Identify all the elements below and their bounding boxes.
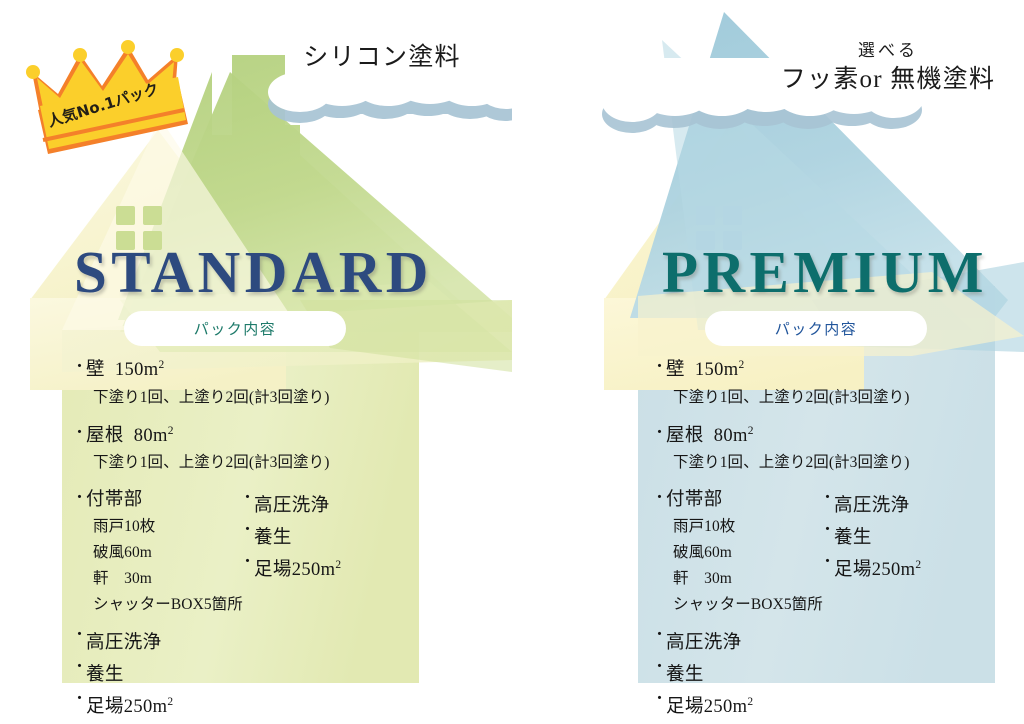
option-head: 付帯部 <box>86 491 143 510</box>
plan-title-standard: STANDARD <box>74 238 433 307</box>
tail-scaffold: 足場250m2 <box>666 692 753 718</box>
list-bullet: ・ <box>72 426 86 442</box>
tail-protection: 養生 <box>666 660 704 686</box>
spec-roof-detail: 下塗り1回、上塗り2回(計3回塗り) <box>93 450 472 472</box>
options-two-columns: ・ 付帯部 雨戸10枚 破風60m 軒 30m シャッターBOX5箇所 ・ 高圧… <box>72 491 472 614</box>
panel-premium: 選べる フッ素or 無機塗料 PREMIUM パック内容 ・ 壁 150m2 下… <box>512 0 1024 683</box>
tail-list: ・ 高圧洗浄 ・ 養生 ・ 足場250m2 <box>652 628 1024 718</box>
list-item: ・ 足場250m2 <box>72 692 472 718</box>
pack-contents-pill-standard: パック内容 <box>124 311 346 346</box>
popular-badge: 人気No.1パック <box>18 28 208 168</box>
spec-wall-detail: 下塗り1回、上塗り2回(計3回塗り) <box>93 385 472 407</box>
spec-block: ・ 屋根 80m2 下塗り1回、上塗り2回(計3回塗り) <box>652 426 1024 473</box>
list-item: ・ 養生 <box>240 523 440 549</box>
caption-premium: 選べる フッ素or 無機塗料 <box>752 40 1024 97</box>
tail-scaffold: 足場250m2 <box>86 692 173 718</box>
list-item: ・ 高圧洗浄 <box>820 491 1020 517</box>
list-item: ・ 養生 <box>72 660 472 686</box>
option-washing: 高圧洗浄 <box>834 491 909 517</box>
option-washing: 高圧洗浄 <box>254 491 329 517</box>
options-column-right: ・ 高圧洗浄 ・ 養生 ・ 足場250m2 <box>820 491 1020 614</box>
list-item: ・ 足場250m2 <box>240 555 440 581</box>
pack-contents-premium: ・ 壁 150m2 下塗り1回、上塗り2回(計3回塗り) ・ 屋根 80m2 下… <box>652 360 1024 724</box>
option-item: シャッターBOX5箇所 <box>93 592 240 614</box>
list-bullet: ・ <box>240 523 254 539</box>
list-item: ・ 高圧洗浄 <box>240 491 440 517</box>
option-scaffold: 足場250m2 <box>254 555 341 581</box>
list-bullet: ・ <box>652 360 666 376</box>
caption-main: フッ素or 無機塗料 <box>752 64 1024 97</box>
panel-standard: 人気No.1パック シリコン塗料 STANDARD パック内容 ・ 壁 150m… <box>0 0 512 683</box>
list-bullet: ・ <box>240 491 254 507</box>
list-bullet: ・ <box>72 692 86 708</box>
list-bullet: ・ <box>820 491 834 507</box>
spec-wall: 壁 150m2 <box>666 360 744 380</box>
caption-standard: シリコン塗料 <box>262 42 502 75</box>
list-bullet: ・ <box>72 491 86 507</box>
list-bullet: ・ <box>820 555 834 571</box>
spec-roof: 屋根 80m2 <box>666 426 754 446</box>
list-item: ・ 養生 <box>820 523 1020 549</box>
spec-block: ・ 壁 150m2 下塗り1回、上塗り2回(計3回塗り) <box>72 360 472 407</box>
options-two-columns: ・ 付帯部 雨戸10枚 破風60m 軒 30m シャッターBOX5箇所 ・ 高圧… <box>652 491 1024 614</box>
caption-sub: 選べる <box>752 40 1024 62</box>
list-bullet: ・ <box>652 692 666 708</box>
list-bullet: ・ <box>72 628 86 644</box>
options-column-left: ・ 付帯部 雨戸10枚 破風60m 軒 30m シャッターBOX5箇所 <box>72 491 240 614</box>
option-item: 雨戸10枚 <box>673 514 820 536</box>
list-bullet: ・ <box>820 523 834 539</box>
list-bullet: ・ <box>240 555 254 571</box>
tail-washing: 高圧洗浄 <box>86 628 161 654</box>
pack-contents-standard: ・ 壁 150m2 下塗り1回、上塗り2回(計3回塗り) ・ 屋根 80m2 下… <box>72 360 472 724</box>
option-head: 付帯部 <box>666 491 723 510</box>
spec-block: ・ 屋根 80m2 下塗り1回、上塗り2回(計3回塗り) <box>72 426 472 473</box>
option-item: シャッターBOX5箇所 <box>673 592 820 614</box>
plan-title-premium: PREMIUM <box>662 238 988 307</box>
spec-roof: 屋根 80m2 <box>86 426 174 446</box>
option-item: 破風60m <box>93 540 240 562</box>
list-item: ・ 高圧洗浄 <box>652 628 1024 654</box>
list-bullet: ・ <box>72 660 86 676</box>
tail-protection: 養生 <box>86 660 124 686</box>
spec-block: ・ 壁 150m2 下塗り1回、上塗り2回(計3回塗り) <box>652 360 1024 407</box>
caption-main: シリコン塗料 <box>262 42 502 75</box>
spec-wall: 壁 150m2 <box>86 360 164 380</box>
tail-washing: 高圧洗浄 <box>666 628 741 654</box>
list-bullet: ・ <box>652 628 666 644</box>
list-bullet: ・ <box>652 491 666 507</box>
list-bullet: ・ <box>72 360 86 376</box>
options-column-right: ・ 高圧洗浄 ・ 養生 ・ 足場250m2 <box>240 491 440 614</box>
list-item: ・ 養生 <box>652 660 1024 686</box>
list-item: ・ 足場250m2 <box>820 555 1020 581</box>
option-scaffold: 足場250m2 <box>834 555 921 581</box>
option-protection: 養生 <box>834 523 872 549</box>
list-item: ・ 足場250m2 <box>652 692 1024 718</box>
list-bullet: ・ <box>652 426 666 442</box>
pack-contents-pill-premium: パック内容 <box>705 311 927 346</box>
spec-roof-detail: 下塗り1回、上塗り2回(計3回塗り) <box>673 450 1024 472</box>
option-protection: 養生 <box>254 523 292 549</box>
list-item: ・ 高圧洗浄 <box>72 628 472 654</box>
spec-wall-detail: 下塗り1回、上塗り2回(計3回塗り) <box>673 385 1024 407</box>
option-item: 軒 30m <box>673 566 820 588</box>
option-item: 軒 30m <box>93 566 240 588</box>
option-item: 雨戸10枚 <box>93 514 240 536</box>
options-column-left: ・ 付帯部 雨戸10枚 破風60m 軒 30m シャッターBOX5箇所 <box>652 491 820 614</box>
comparison-graphic: 人気No.1パック シリコン塗料 STANDARD パック内容 ・ 壁 150m… <box>0 0 1024 683</box>
list-bullet: ・ <box>652 660 666 676</box>
tail-list: ・ 高圧洗浄 ・ 養生 ・ 足場250m2 <box>72 628 472 718</box>
option-item: 破風60m <box>673 540 820 562</box>
